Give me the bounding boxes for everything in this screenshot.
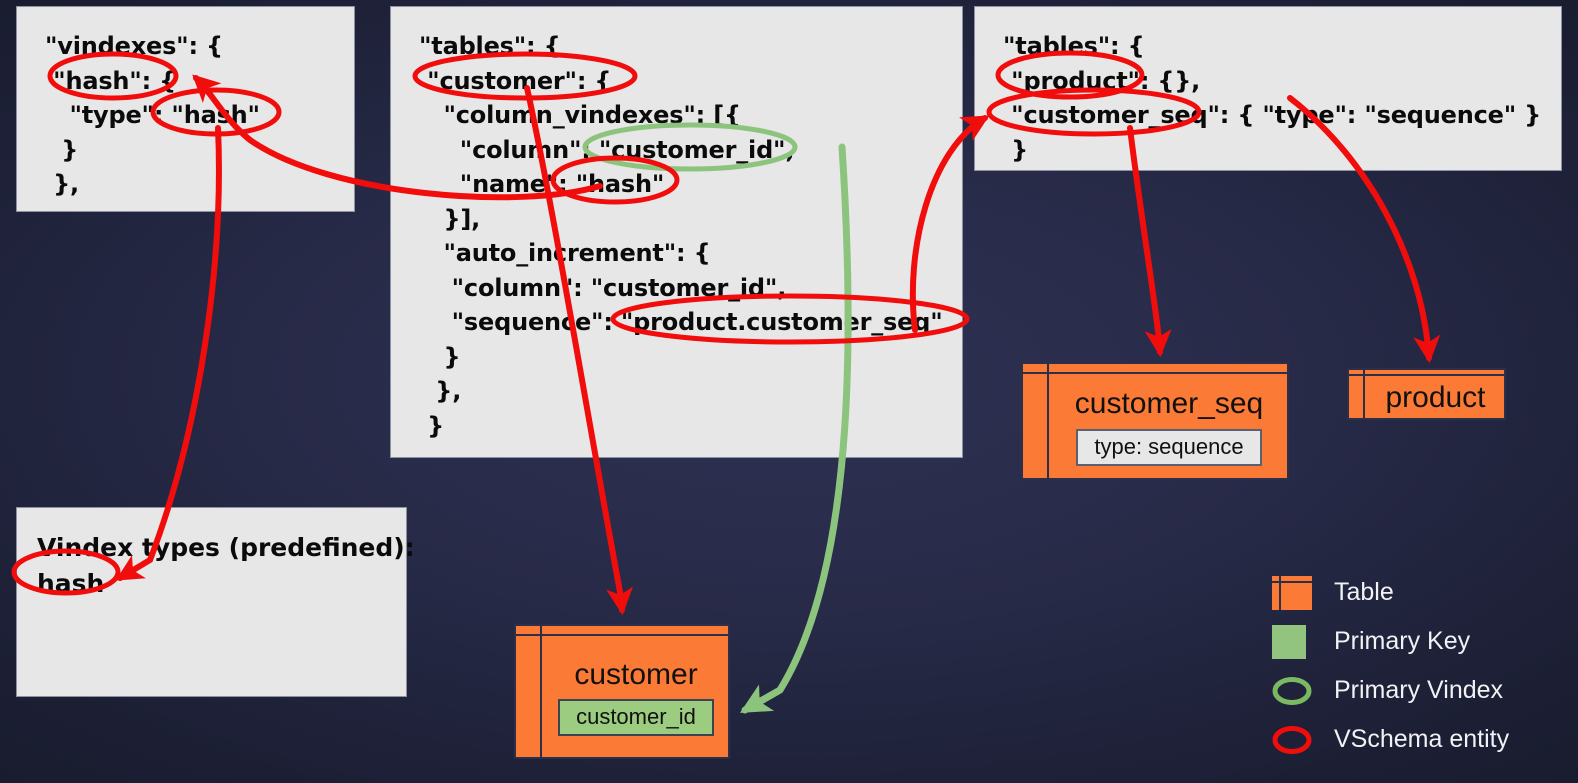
table-header-bar xyxy=(516,626,728,636)
primary-key-rect-swatch xyxy=(1272,625,1306,659)
table-name-customer: customer xyxy=(564,659,707,691)
table-box-customer: customer customer_id xyxy=(514,624,730,759)
table-left-column xyxy=(1349,370,1365,418)
vindex-types-list: hash xyxy=(17,566,406,602)
tables-product-panel: "tables": { "product": {}, "customer_seq… xyxy=(974,6,1562,171)
vindex-types-panel: Vindex types (predefined): hash xyxy=(16,507,407,697)
table-left-column xyxy=(1023,364,1049,478)
legend-row-table: Table xyxy=(1272,568,1509,617)
legend: Table Primary Key Primary Vindex VSchema… xyxy=(1272,568,1509,764)
table-rect-swatch xyxy=(1272,576,1312,610)
vindex-types-heading: Vindex types (predefined): xyxy=(17,508,406,566)
green-ellipse-swatch xyxy=(1272,674,1312,708)
table-left-column xyxy=(516,626,542,757)
tables-customer-panel-code: "tables": { "customer": { "column_vindex… xyxy=(391,7,962,443)
table-header-bar xyxy=(1023,364,1287,374)
tables-customer-panel: "tables": { "customer": { "column_vindex… xyxy=(390,6,963,458)
table-box-customer-seq: customer_seq type: sequence xyxy=(1021,362,1289,480)
legend-label-vschema-entity: VSchema entity xyxy=(1334,725,1509,754)
vindexes-panel: "vindexes": { "hash": { "type": "hash" }… xyxy=(16,6,355,212)
primary-key-customer-id: customer_id xyxy=(558,699,714,736)
legend-label-table: Table xyxy=(1334,578,1394,607)
table-attribute-type-sequence: type: sequence xyxy=(1076,429,1261,466)
legend-row-primary-key: Primary Key xyxy=(1272,617,1509,666)
legend-label-primary-key: Primary Key xyxy=(1334,627,1470,656)
table-header-bar xyxy=(1349,370,1504,376)
red-ellipse-swatch xyxy=(1272,723,1312,757)
legend-row-vschema-entity: VSchema entity xyxy=(1272,715,1509,764)
legend-label-primary-vindex: Primary Vindex xyxy=(1334,676,1503,705)
vindexes-panel-code: "vindexes": { "hash": { "type": "hash" }… xyxy=(17,7,354,202)
tables-product-panel-code: "tables": { "product": {}, "customer_seq… xyxy=(975,7,1561,167)
table-name-customer-seq: customer_seq xyxy=(1065,388,1273,420)
legend-row-primary-vindex: Primary Vindex xyxy=(1272,666,1509,715)
table-box-product: product xyxy=(1347,368,1506,420)
diagram-canvas: "vindexes": { "hash": { "type": "hash" }… xyxy=(0,0,1578,783)
table-name-product: product xyxy=(1375,382,1495,414)
